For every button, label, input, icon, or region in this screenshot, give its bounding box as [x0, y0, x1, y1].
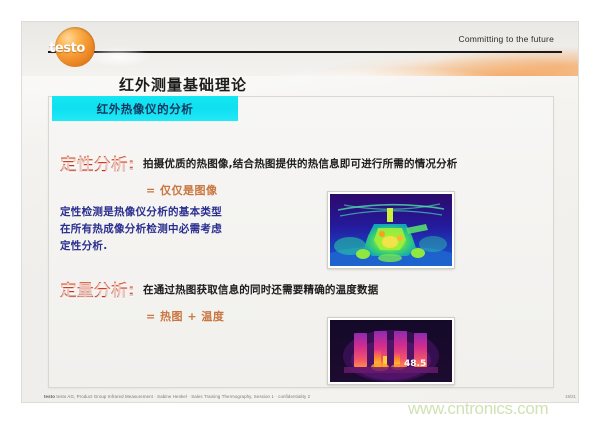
temperature-reading-label: 48.5 [404, 359, 426, 369]
watermark-label: www.cntronics.com [408, 399, 548, 419]
white-highlight-graphic [198, 56, 498, 76]
section1-body-text: 拍摄优质的热图像,结合热图提供的热信息即可进行所需的情况分析 [143, 156, 458, 171]
footer-credit-text: testo AG, Product Group Infrared Measure… [56, 394, 310, 399]
helicopter-thermogram-svg [330, 194, 452, 266]
thermal-image-building-facade: 48.5 [328, 318, 454, 384]
footer-brand: testo [44, 394, 55, 399]
section1-note-line-2: 在所有热成像分析检测中必需考虑 [60, 221, 222, 238]
section1-note-line-3: 定性分析. [60, 238, 222, 255]
section2-equation: = 热图 + 温度 [146, 308, 224, 324]
section-subtitle-label: 红外热像仪的分析 [52, 96, 238, 121]
thermal-image-helicopter [328, 192, 454, 268]
section-subtitle-band: 红外热像仪的分析 [52, 96, 238, 121]
brand-tagline: Committing to the future [458, 34, 554, 44]
footer-page-number: 19/21 [565, 394, 576, 399]
section1-equation: = 仅仅是图像 [146, 182, 218, 198]
facade-thermogram-svg: 48.5 [330, 320, 452, 382]
section1-notes: 定性检测是热像仪分析的基本类型 在所有热成像分析检测中必需考虑 定性分析. [60, 204, 222, 255]
section1-note-line-1: 定性检测是热像仪分析的基本类型 [60, 204, 222, 221]
testo-logo-label: testo [49, 41, 119, 56]
slide-canvas: Committing to the future testo 红外测量基础理论 … [0, 0, 600, 424]
section2-body-text: 在通过热图获取信息的同时还需要精确的温度数据 [143, 282, 378, 297]
section1-heading: 定性分析: [60, 151, 135, 175]
footer-credit: testo testo AG, Product Group Infrared M… [44, 394, 310, 399]
section2-heading: 定量分析: [60, 277, 135, 301]
